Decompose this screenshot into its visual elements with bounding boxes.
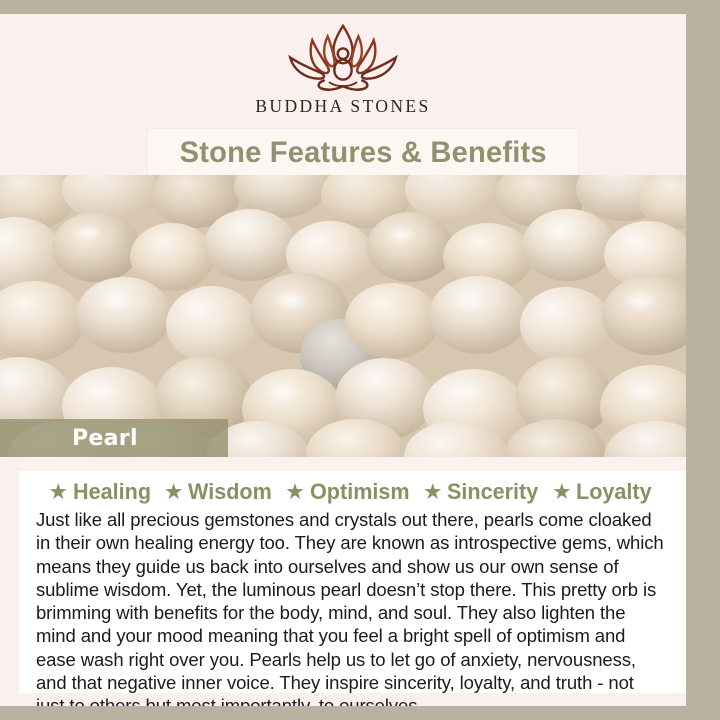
- keyword-label: Loyalty: [576, 479, 652, 505]
- hero-image: Pearl: [0, 175, 686, 457]
- description-paragraph: Just like all precious gemstones and cry…: [29, 508, 673, 706]
- keyword-sincerity: ★ Sincerity: [413, 479, 542, 505]
- keyword-wisdom: ★ Wisdom: [154, 479, 275, 505]
- star-icon: ★: [50, 483, 67, 502]
- content-card: BUDDHA STONES Stone Features & Benefits: [0, 14, 686, 706]
- star-icon: ★: [165, 483, 182, 502]
- frame-right-band: [684, 0, 720, 720]
- poster-root: BUDDHA STONES Stone Features & Benefits: [0, 0, 720, 720]
- star-icon: ★: [286, 483, 303, 502]
- keyword-optimism: ★ Optimism: [275, 479, 413, 505]
- pearl-photo: [0, 175, 686, 457]
- page-title: Stone Features & Benefits: [179, 136, 546, 170]
- divider-strip: [19, 457, 686, 471]
- lotus-meditation-icon: [268, 22, 418, 94]
- stone-name-badge: Pearl: [0, 419, 228, 457]
- keyword-label: Sincerity: [447, 479, 538, 505]
- stone-name: Pearl: [72, 426, 138, 451]
- brand-name: BUDDHA STONES: [255, 96, 430, 117]
- star-icon: ★: [424, 483, 441, 502]
- keyword-healing: ★ Healing: [50, 479, 154, 505]
- keyword-loyalty: ★ Loyalty: [542, 479, 655, 505]
- benefits-panel: ★ Healing ★ Wisdom ★ Optimism ★ Sincerit…: [19, 471, 686, 693]
- keyword-row: ★ Healing ★ Wisdom ★ Optimism ★ Sincerit…: [29, 477, 676, 507]
- keyword-label: Wisdom: [188, 479, 272, 505]
- title-band: Stone Features & Benefits: [148, 129, 578, 177]
- brand-logo: BUDDHA STONES: [0, 14, 686, 126]
- star-icon: ★: [553, 483, 570, 502]
- keyword-label: Optimism: [310, 479, 410, 505]
- frame-top-band: [0, 0, 720, 15]
- keyword-label: Healing: [73, 479, 151, 505]
